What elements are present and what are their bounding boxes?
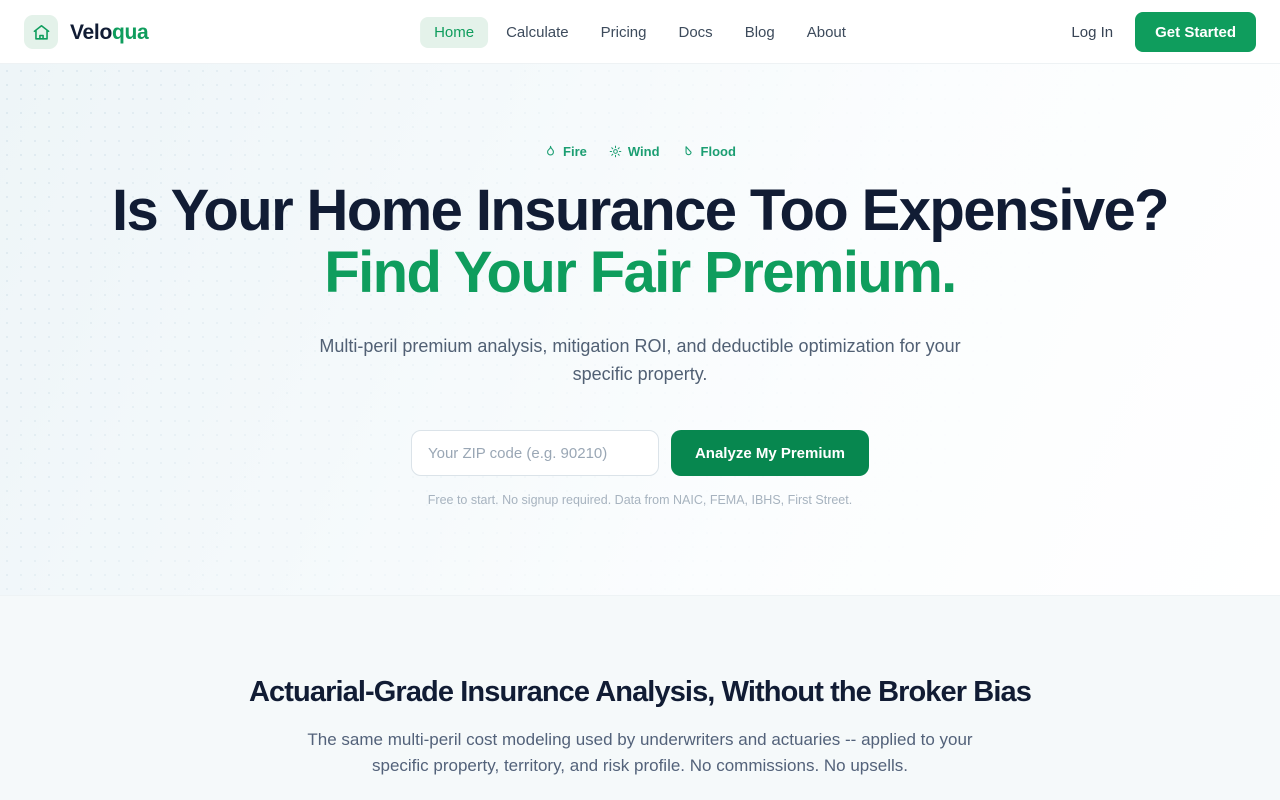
water-droplet-icon [682, 145, 695, 158]
get-started-button[interactable]: Get Started [1135, 12, 1256, 52]
home-icon [24, 15, 58, 49]
nav-item-home[interactable]: Home [420, 17, 488, 48]
peril-badge-fire: Fire [544, 145, 587, 158]
peril-label-wind: Wind [628, 145, 660, 158]
hero-title-lead: Is Your Home Insurance Too Expensive? [112, 178, 1168, 243]
main-nav: Home Calculate Pricing Docs Blog About [420, 0, 860, 64]
brand-name-part1: Velo [70, 21, 112, 44]
peril-badge-wind: Wind [609, 145, 660, 158]
nav-item-docs[interactable]: Docs [665, 17, 727, 48]
wind-burst-icon [609, 145, 622, 158]
analyze-premium-button[interactable]: Analyze My Premium [671, 430, 869, 476]
brand-name: Veloqua [70, 22, 148, 43]
zip-input[interactable] [411, 430, 659, 476]
hero-title-highlight: Find Your Fair Premium. [324, 240, 955, 305]
site-header: Veloqua Home Calculate Pricing Docs Blog… [0, 0, 1280, 64]
nav-item-pricing[interactable]: Pricing [587, 17, 661, 48]
zip-lookup-form: Analyze My Premium [0, 430, 1280, 476]
peril-badge-list: Fire Wind Flood [0, 64, 1280, 158]
peril-badge-flood: Flood [682, 145, 736, 158]
features-subtitle: The same multi-peril cost modeling used … [290, 727, 990, 779]
nav-item-about[interactable]: About [793, 17, 860, 48]
hero-disclaimer: Free to start. No signup required. Data … [0, 494, 1280, 507]
features-section: Actuarial-Grade Insurance Analysis, With… [0, 595, 1280, 800]
nav-item-blog[interactable]: Blog [731, 17, 789, 48]
peril-label-flood: Flood [701, 145, 736, 158]
features-title: Actuarial-Grade Insurance Analysis, With… [0, 596, 1280, 710]
login-link[interactable]: Log In [1071, 24, 1113, 41]
nav-item-calculate[interactable]: Calculate [492, 17, 583, 48]
brand-name-part2: qua [112, 21, 148, 44]
hero-section: Fire Wind Flood I [0, 64, 1280, 595]
brand-logo[interactable]: Veloqua [24, 0, 148, 64]
hero-subtitle: Multi-peril premium analysis, mitigation… [290, 332, 990, 388]
flame-icon [544, 145, 557, 158]
peril-label-fire: Fire [563, 145, 587, 158]
header-actions: Log In Get Started [1071, 0, 1256, 64]
page-title: Is Your Home Insurance Too Expensive? Fi… [50, 180, 1230, 304]
